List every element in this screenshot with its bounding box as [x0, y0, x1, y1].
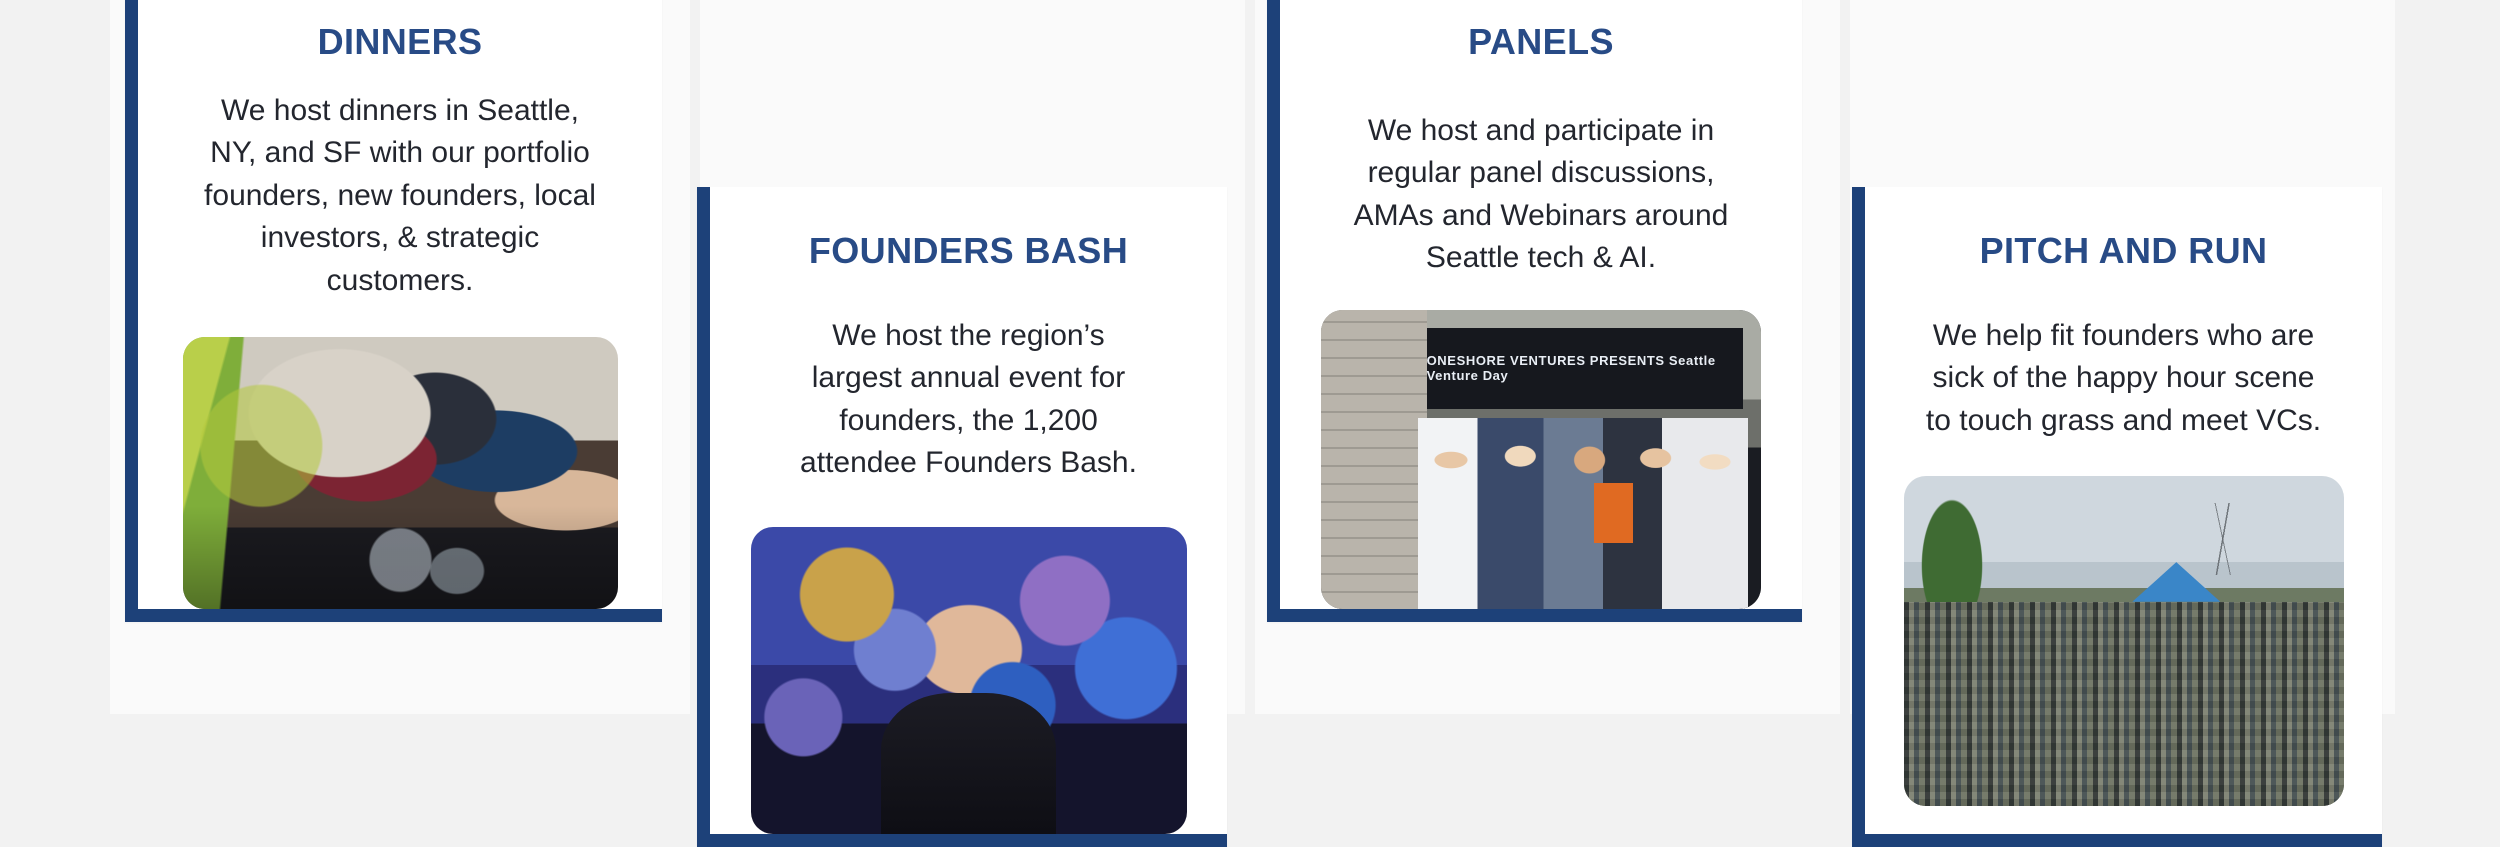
card-title-pitch-and-run: PITCH AND RUN: [1980, 231, 2268, 271]
card-photo-founders-bash: [751, 527, 1187, 834]
feature-card-dinners[interactable]: DINNERS We host dinners in Seattle, NY, …: [125, 0, 662, 622]
orange-skirt: [1594, 483, 1634, 543]
card-title-founders-bash: FOUNDERS BASH: [809, 231, 1128, 271]
stage-banner-text: ONESHORE VENTURES PRESENTS Seattle Ventu…: [1427, 328, 1744, 409]
crowd: [1904, 602, 2344, 807]
card-photo-panels: ONESHORE VENTURES PRESENTS Seattle Ventu…: [1321, 310, 1761, 609]
feature-card-grid: DINNERS We host dinners in Seattle, NY, …: [0, 0, 2500, 714]
card-body-pitch-and-run: We help fit founders who are sick of the…: [1924, 315, 2324, 443]
card-body-founders-bash: We host the region’s largest annual even…: [791, 315, 1146, 485]
card-body-dinners: We host dinners in Seattle, NY, and SF w…: [200, 90, 600, 303]
card-title-panels: PANELS: [1468, 22, 1614, 62]
card-body-panels: We host and participate in regular panel…: [1341, 110, 1741, 280]
panel-discussion-image: ONESHORE VENTURES PRESENTS Seattle Ventu…: [1321, 310, 1761, 609]
outdoor-crowd-image: [1904, 476, 2344, 806]
founders-bash-singer-image: [751, 527, 1187, 834]
dinner-party-image: [183, 337, 618, 609]
panelists: [1418, 418, 1748, 609]
feature-card-pitch-and-run[interactable]: PITCH AND RUN We help fit founders who a…: [1852, 187, 2382, 847]
overhead-wires: [2102, 503, 2344, 576]
card-photo-dinners: [183, 337, 618, 609]
stage-wall: [1321, 310, 1427, 609]
card-photo-pitch-and-run: [1904, 476, 2344, 806]
card-title-dinners: DINNERS: [318, 22, 483, 62]
feature-card-panels[interactable]: PANELS We host and participate in regula…: [1267, 0, 1802, 622]
feature-card-founders-bash[interactable]: FOUNDERS BASH We host the region’s large…: [697, 187, 1227, 847]
